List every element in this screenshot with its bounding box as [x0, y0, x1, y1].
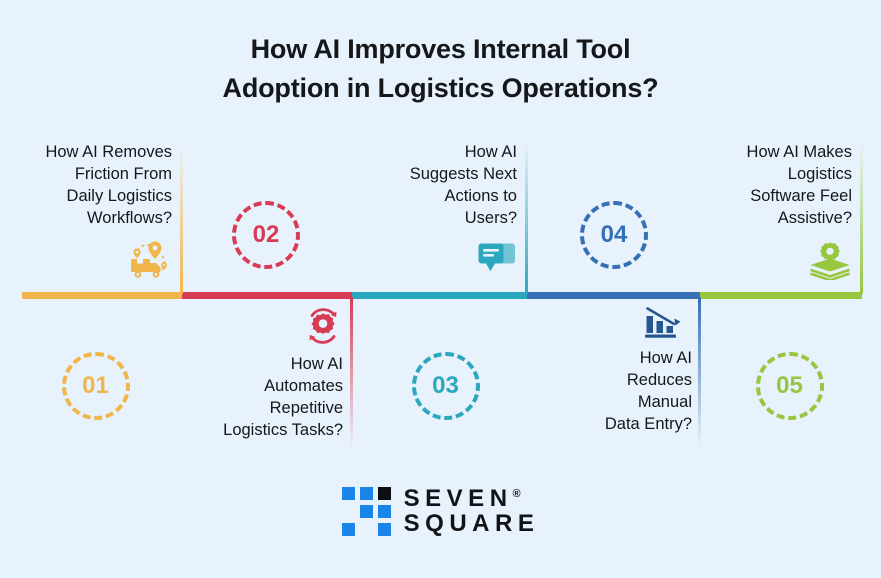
gear-layers-icon — [808, 240, 852, 280]
timeline-segment-3 — [352, 292, 527, 299]
timeline-bar — [22, 292, 862, 299]
brand-logo: SEVEN® SQUARE — [0, 487, 881, 536]
logo-square-6 — [378, 505, 391, 518]
page-title-line-1: How AI Improves Internal Tool — [0, 30, 881, 69]
logo-line-1-text: SEVEN — [404, 485, 513, 512]
cell-top-4: 04 — [538, 142, 690, 292]
step-1-badge-wrap: 01 — [62, 352, 130, 420]
connector-stem-4 — [698, 297, 701, 449]
step-3-badge: 03 — [412, 352, 480, 420]
step-2-label-line-2: Friction From — [45, 164, 172, 186]
gear-refresh-icon — [303, 306, 343, 346]
step-1-label-line-1: How AI — [223, 354, 343, 376]
step-3-label-line-2: Reduces — [605, 370, 692, 392]
logo-square-5 — [360, 505, 373, 518]
bar-chart-down-icon — [644, 306, 684, 340]
step-3-label: How AI Reduces Manual Data Entry? — [605, 348, 692, 436]
step-4-label-line-1: How AI — [410, 142, 517, 164]
timeline-segment-2 — [182, 292, 352, 299]
logo-line-1: SEVEN® — [404, 487, 540, 511]
logo-mark-icon — [342, 487, 391, 536]
step-2-label: How AI Removes Friction From Daily Logis… — [45, 142, 172, 230]
step-2-label-line-1: How AI Removes — [45, 142, 172, 164]
cell-bottom-5: 05 — [712, 300, 867, 450]
step-4-badge-wrap: 04 — [580, 201, 648, 269]
cell-top-5: How AI Makes Logistics Software Feel Ass… — [700, 142, 852, 292]
cell-bottom-2: How AI Automates Repetitive Logistics Ta… — [188, 300, 343, 450]
step-3-badge-wrap: 03 — [412, 352, 480, 420]
step-1-label-line-4: Logistics Tasks? — [223, 420, 343, 442]
cell-bottom-3: 03 — [368, 300, 523, 450]
step-4-label: How AI Suggests Next Actions to Users? — [410, 142, 517, 230]
connector-stem-5 — [860, 142, 863, 294]
logo-wordmark: SEVEN® SQUARE — [404, 487, 540, 536]
cell-bottom-4: How AI Reduces Manual Data Entry? — [540, 300, 692, 450]
logo-square-4 — [342, 505, 355, 518]
cell-bottom-1: 01 — [18, 300, 173, 450]
step-3-label-line-4: Data Entry? — [605, 414, 692, 436]
cell-top-1: How AI Removes Friction From Daily Logis… — [8, 142, 172, 292]
step-1-label: How AI Automates Repetitive Logistics Ta… — [223, 354, 343, 442]
step-1-label-line-3: Repetitive — [223, 398, 343, 420]
logo-square-7 — [342, 523, 355, 536]
step-4-badge: 04 — [580, 201, 648, 269]
step-2-badge-wrap: 02 — [232, 201, 300, 269]
step-5-number: 05 — [776, 372, 803, 400]
page-title-line-2: Adoption in Logistics Operations? — [0, 69, 881, 108]
logo-line-2: SQUARE — [404, 512, 540, 536]
step-4-label-line-2: Suggests Next — [410, 164, 517, 186]
step-5-label-line-2: Logistics — [747, 164, 852, 186]
step-3-label-line-3: Manual — [605, 392, 692, 414]
timeline-segment-4 — [527, 292, 700, 299]
cell-top-2: 02 — [190, 142, 342, 292]
logo-square-8 — [360, 523, 373, 536]
step-3-number: 03 — [432, 372, 459, 400]
step-2-badge: 02 — [232, 201, 300, 269]
logo-square-1 — [342, 487, 355, 500]
step-1-number: 01 — [82, 372, 109, 400]
logo-square-9 — [378, 523, 391, 536]
logo-square-3 — [378, 487, 391, 500]
infographic-canvas: How AI Improves Internal Tool Adoption i… — [0, 0, 881, 578]
cell-top-3: How AI Suggests Next Actions to Users? — [362, 142, 517, 292]
step-4-label-line-4: Users? — [410, 208, 517, 230]
step-3-label-line-1: How AI — [605, 348, 692, 370]
connector-stem-2 — [350, 297, 353, 449]
page-title: How AI Improves Internal Tool Adoption i… — [0, 30, 881, 108]
timeline-segment-1 — [22, 292, 182, 299]
step-5-badge-wrap: 05 — [756, 352, 824, 420]
step-5-label-line-3: Software Feel — [747, 186, 852, 208]
step-5-label-line-4: Assistive? — [747, 208, 852, 230]
step-5-badge: 05 — [756, 352, 824, 420]
step-5-label-line-1: How AI Makes — [747, 142, 852, 164]
step-5-label: How AI Makes Logistics Software Feel Ass… — [747, 142, 852, 230]
timeline-segment-5 — [700, 292, 862, 299]
step-1-badge: 01 — [62, 352, 130, 420]
step-4-label-line-3: Actions to — [410, 186, 517, 208]
logo-square-2 — [360, 487, 373, 500]
step-2-label-line-3: Daily Logistics — [45, 186, 172, 208]
chat-bubble-icon — [477, 242, 517, 275]
step-2-label-line-4: Workflows? — [45, 208, 172, 230]
step-2-number: 02 — [253, 221, 280, 249]
connector-stem-3 — [525, 142, 528, 294]
step-1-label-line-2: Automates — [223, 376, 343, 398]
registered-mark: ® — [513, 488, 521, 500]
step-4-number: 04 — [601, 221, 628, 249]
delivery-truck-location-icon — [126, 240, 172, 280]
connector-stem-1 — [180, 142, 183, 294]
